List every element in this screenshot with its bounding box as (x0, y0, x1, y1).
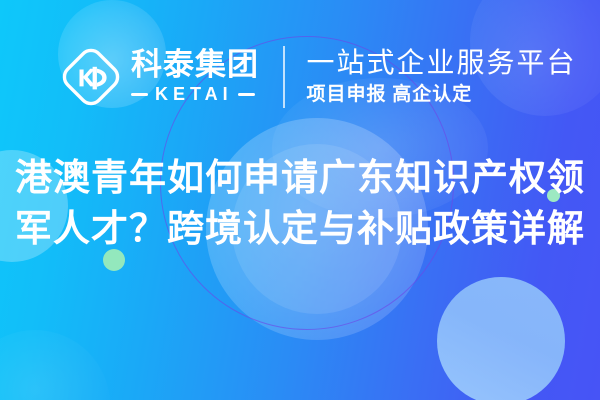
header-divider (283, 46, 285, 108)
page-title-line-2: 军人才？跨境认定与补贴政策详解 (0, 203, 600, 254)
logo-rule-right (238, 93, 255, 96)
decorative-circle-bottom-left (0, 330, 110, 400)
brand-name-en: KETAI (155, 84, 233, 105)
ketai-diamond-kp-logo-icon (60, 46, 122, 108)
brand-name-en-row: KETAI (131, 84, 259, 105)
brand-logo[interactable]: 科泰集团 KETAI (60, 46, 259, 108)
tagline-block: 一站式企业服务平台 项目申报 高企认定 (307, 46, 577, 108)
promo-banner: 科泰集团 KETAI 一站式企业服务平台 项目申报 高企认定 港澳青年如何申请广… (0, 0, 600, 400)
brand-wordmark: 科泰集团 KETAI (131, 49, 259, 105)
tagline-main: 一站式企业服务平台 (307, 46, 577, 79)
decorative-circle-bottom-right (437, 277, 565, 400)
banner-header: 科泰集团 KETAI 一站式企业服务平台 项目申报 高企认定 (0, 34, 600, 120)
page-title: 港澳青年如何申请广东知识产权领 军人才？跨境认定与补贴政策详解 (0, 152, 600, 254)
tagline-sub: 项目申报 高企认定 (307, 83, 577, 108)
brand-name-cn: 科泰集团 (131, 49, 259, 81)
page-title-line-1: 港澳青年如何申请广东知识产权领 (0, 152, 600, 203)
logo-rule-left (131, 93, 148, 96)
